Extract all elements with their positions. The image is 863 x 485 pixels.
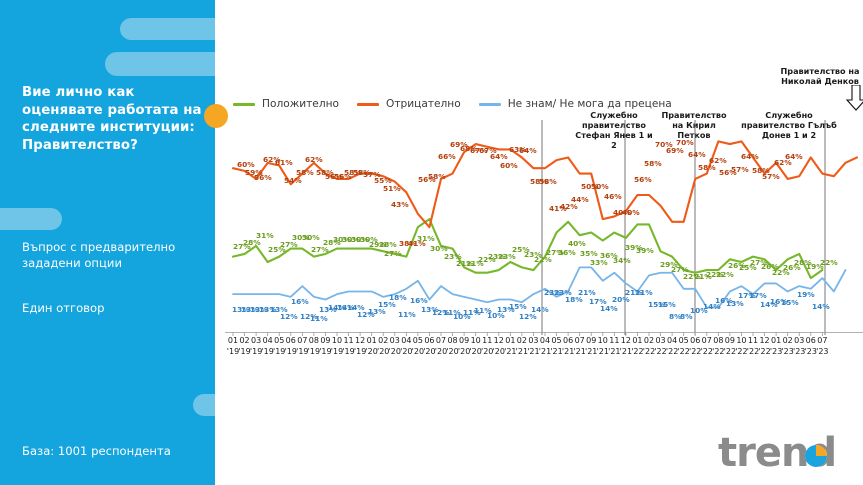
data-label-dontknow: 14% <box>600 304 618 313</box>
data-label-positive: 39% <box>636 246 654 255</box>
axis-tick-marks <box>225 332 863 338</box>
data-label-negative: 60% <box>500 161 518 170</box>
legend-item-positive[interactable]: Положително <box>233 98 339 110</box>
data-label-positive: 30% <box>302 233 320 242</box>
data-label-positive: 22% <box>716 270 734 279</box>
series-line-2 <box>233 267 845 307</box>
data-label-negative: 66% <box>438 152 456 161</box>
data-label-dontknow: 16% <box>410 296 428 305</box>
data-label-positive: 22% <box>820 258 838 267</box>
x-axis-labels: 01'1902'1903'1904'1905'1906'1907'1908'19… <box>225 336 863 362</box>
data-label-negative: 58% <box>644 159 662 168</box>
data-label-dontknow: 13% <box>726 299 744 308</box>
data-label-positive: 36% <box>558 248 576 257</box>
data-label-negative: 64% <box>490 152 508 161</box>
data-label-negative: 64% <box>741 152 759 161</box>
data-label-negative: 51% <box>383 184 401 193</box>
legend-item-negative[interactable]: Отрицателно <box>357 98 461 110</box>
legend-label-negative: Отрицателно <box>386 98 461 110</box>
data-label-dontknow: 11% <box>398 310 416 319</box>
base-respondents-label: База: 1001 респондента <box>22 444 222 458</box>
data-label-negative: 61% <box>275 158 293 167</box>
data-label-negative: 58% <box>296 168 314 177</box>
data-label-dontknow: 15% <box>781 298 799 307</box>
data-label-negative: 62% <box>305 155 323 164</box>
data-label-dontknow: 11% <box>310 314 328 323</box>
data-label-dontknow: 17% <box>749 291 767 300</box>
data-label-positive: 40% <box>568 239 586 248</box>
decorative-blob <box>193 394 215 416</box>
legend-label-dontknow: Не знам/ Не мога да прецена <box>508 98 672 110</box>
legend-swatch-positive <box>233 103 255 106</box>
question-title: Вие лично как оценявате работата на след… <box>22 84 202 154</box>
data-label-negative: 46% <box>604 192 622 201</box>
data-label-dontknow: 14% <box>531 305 549 314</box>
data-label-negative: 64% <box>519 146 537 155</box>
data-label-negative: 50% <box>591 182 609 191</box>
data-label-negative: 56% <box>254 173 272 182</box>
data-label-negative: 58% <box>539 177 557 186</box>
data-label-positive: 31% <box>417 234 435 243</box>
data-label-negative: 62% <box>709 156 727 165</box>
data-label-positive: 33% <box>590 258 608 267</box>
x-axis-tick: 07'23 <box>813 336 831 357</box>
data-label-dontknow: 19% <box>797 290 815 299</box>
data-label-negative: 40% <box>622 208 640 217</box>
decorative-blob <box>120 18 215 40</box>
data-label-negative: 57% <box>731 165 749 174</box>
data-label-negative: 43% <box>391 200 409 209</box>
legend-swatch-dontknow <box>479 103 501 106</box>
question-type-label: Въпрос с предварително зададени опции <box>22 239 208 271</box>
annotation-cabinet-nikolay-denkov: Правителство на Николай Денков <box>775 66 863 86</box>
data-label-positive: 34% <box>613 256 631 265</box>
data-label-dontknow: 14% <box>812 302 830 311</box>
answer-mode-label: Един отговор <box>22 300 208 316</box>
legend-swatch-negative <box>357 103 379 106</box>
data-label-positive: 31% <box>256 231 274 240</box>
data-label-negative: 64% <box>785 152 803 161</box>
legend-label-positive: Положително <box>262 98 339 110</box>
data-label-negative: 44% <box>571 195 589 204</box>
decorative-blob <box>0 208 62 230</box>
data-label-negative: 54% <box>284 176 302 185</box>
data-label-dontknow: 16% <box>291 297 309 306</box>
decorative-blob <box>105 52 215 76</box>
trend-logo: trend <box>718 430 853 476</box>
data-label-positive: 27% <box>384 249 402 258</box>
data-label-dontknow: 12% <box>280 312 298 321</box>
data-label-negative: 56% <box>634 175 652 184</box>
data-label-dontknow: 21% <box>578 288 596 297</box>
data-label-positive: 28% <box>379 240 397 249</box>
data-label-negative: 58% <box>428 172 446 181</box>
down-arrow-icon <box>846 85 863 111</box>
data-label-positive: 35% <box>580 249 598 258</box>
slide-root: Вие лично как оценявате работата на след… <box>0 0 863 485</box>
legend-item-dontknow[interactable]: Не знам/ Не мога да прецена <box>479 98 672 110</box>
data-label-negative: 69% <box>666 146 684 155</box>
data-label-dontknow: 15% <box>509 302 527 311</box>
data-label-dontknow: 15% <box>658 300 676 309</box>
data-label-negative: 57% <box>762 172 780 181</box>
data-label-negative: 70% <box>676 138 694 147</box>
chart-legend: Положително Отрицателно Не знам/ Не мога… <box>233 98 690 110</box>
data-label-negative: 64% <box>688 150 706 159</box>
data-label-dontknow: 21% <box>635 288 653 297</box>
data-label-dontknow: 18% <box>389 293 407 302</box>
